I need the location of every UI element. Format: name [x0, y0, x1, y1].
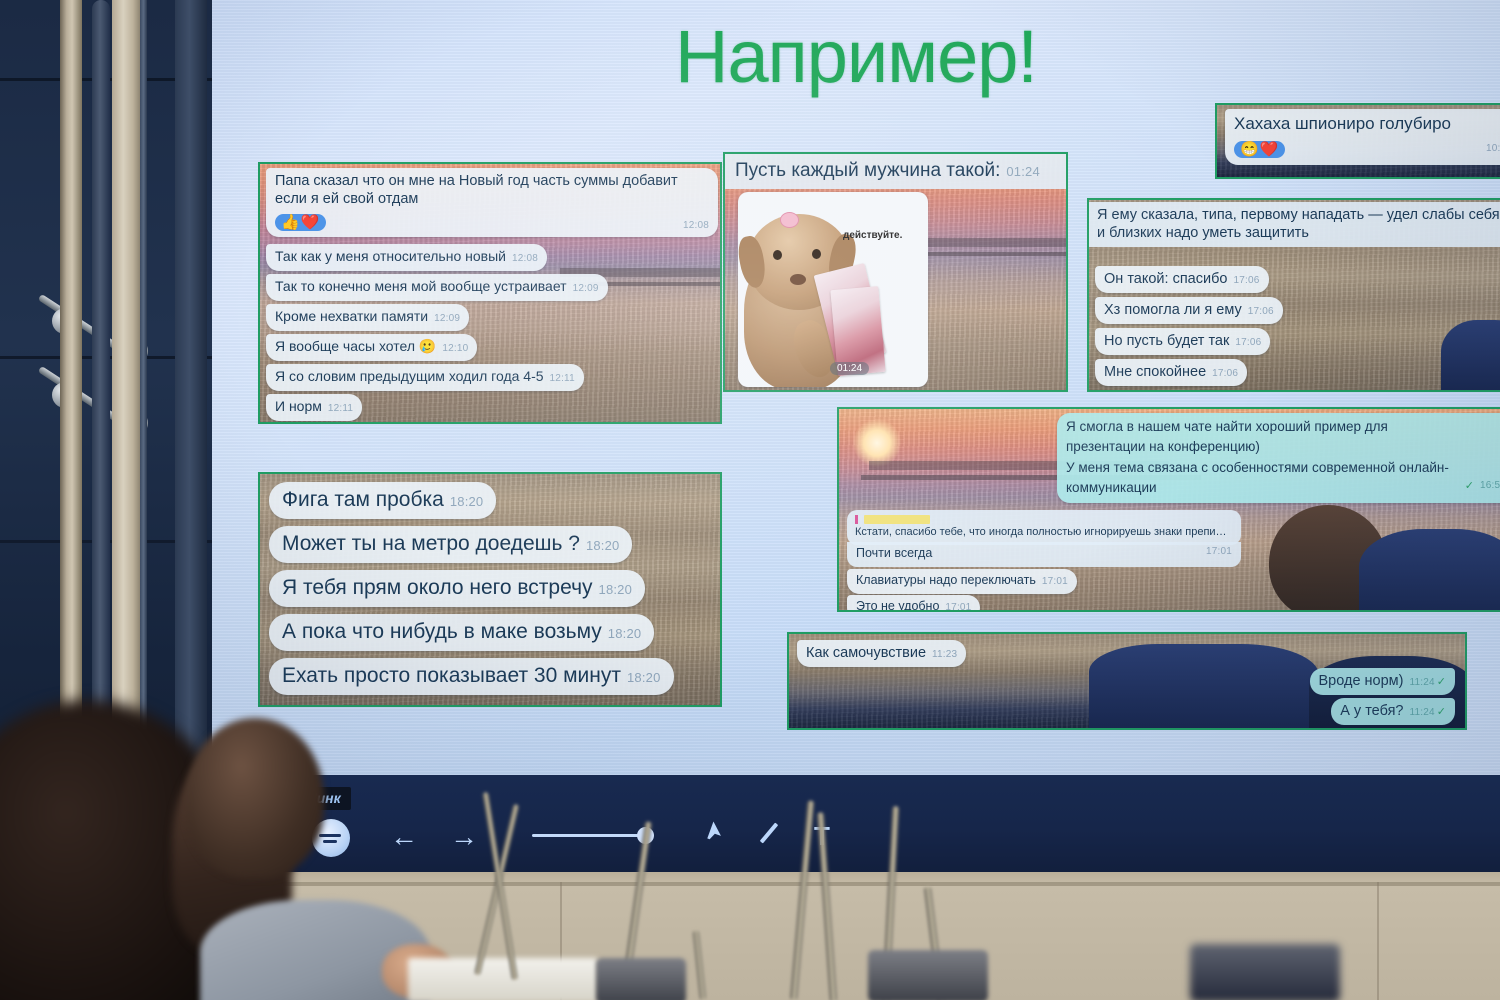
chat-bubble: Ехать просто показывает 30 минут18:20: [269, 658, 674, 695]
bubble-text-line1: Я смогла в нашем чате найти хороший прим…: [1066, 419, 1388, 434]
bubble-time: 12:11: [550, 373, 575, 384]
bubble-text: Вроде норм): [1319, 673, 1404, 689]
bubble-text: Я со словим предыдущим ходил года 4-5: [275, 368, 544, 384]
next-slide-button[interactable]: →: [450, 823, 478, 851]
progress-slider-knob[interactable]: [637, 827, 654, 844]
bubble-time: 18:20: [450, 494, 484, 509]
bubble-time: 18:20: [586, 538, 620, 553]
bubble-time: 17:01: [1206, 546, 1232, 559]
projection-screen: Например! Папа сказал что он мне на Новы…: [212, 0, 1500, 775]
progress-slider-track[interactable]: [532, 834, 642, 837]
read-tick-icon: ✓: [1437, 676, 1446, 688]
bubble-text: Ехать просто показывает 30 минут: [282, 664, 621, 687]
text-tool-button[interactable]: T: [814, 821, 830, 852]
chat-bubble: Кроме нехватки памяти12:09: [266, 304, 469, 331]
bubble-text: Папа сказал что он мне на Новый год част…: [275, 173, 678, 207]
reaction-pill[interactable]: 👍❤️: [275, 214, 326, 231]
bubble-text: Может ты на метро доедешь ?: [282, 532, 580, 555]
pen-tool-icon[interactable]: [757, 821, 781, 845]
chat-bubble: И норм12:11: [266, 394, 362, 421]
window-mullion: [112, 0, 140, 1000]
bubble-time: 17:06: [1212, 368, 1238, 379]
link-tooltip: Линк: [297, 787, 351, 810]
bubble-text: Пусть каждый мужчина такой:: [735, 160, 1000, 181]
chat-bubble: Фига там пробка18:20: [269, 482, 496, 519]
screenshot-root: Например! Папа сказал что он мне на Новы…: [0, 0, 1500, 1000]
bubble-text: Клавиатуры надо переключать: [856, 573, 1036, 587]
bubble-text: Как самочувствие: [806, 645, 926, 661]
bubble-text: Хз помогла ли я ему: [1104, 302, 1242, 318]
bubble-time: 11:24: [1409, 677, 1434, 688]
chat-bubble: Я со словим предыдущим ходил года 4-512:…: [266, 364, 584, 391]
chat-card-how-are-you: Как самочувствие11:23 Вроде норм)11:24✓ …: [787, 632, 1467, 730]
chat-bubble: А пока что нибудь в маке возьму18:20: [269, 614, 654, 651]
hair-clip-icon: [780, 212, 799, 228]
bubble-text: Я ему сказала, типа, первому нападать — …: [1097, 207, 1465, 223]
chat-card-defend: Я ему сказала, типа, первому нападать — …: [1087, 198, 1500, 392]
bubble-time: 12:10: [442, 343, 468, 354]
chat-bubble: Почти всегда 17:01: [847, 542, 1241, 567]
bubble-text: Это не удобно: [856, 599, 939, 612]
chat-bubble: А у тебя?11:24✓: [1331, 698, 1455, 725]
window-mullion: [60, 0, 82, 1000]
bubble-time: 18:20: [608, 626, 642, 641]
bubble-time: 17:06: [1233, 275, 1259, 286]
wall-panel: [212, 872, 1500, 1000]
chat-bubble: Может ты на метро доедешь ?18:20: [269, 526, 632, 563]
bubble-time: 18:20: [627, 670, 661, 685]
bubble-text: Хахаха шпиониро голубиро: [1234, 114, 1451, 133]
presentation-toolbar: Линк ← → T: [212, 775, 1500, 872]
bubble-text: А у тебя?: [1340, 703, 1403, 719]
bubble-text-line2: презентации на конференцию): [1066, 439, 1260, 454]
chat-bubble: Я тебя прям около него встречу18:20: [269, 570, 645, 607]
meme-timestamp: 01:24: [830, 362, 869, 375]
meme-image-message[interactable]: действуйте. 01:24: [738, 192, 928, 387]
bubble-text: Кстати, спасибо тебе, что иногда полност…: [855, 526, 1227, 538]
bubble-text: А пока что нибудь в маке возьму: [282, 620, 602, 643]
bubble-text: Кроме нехватки памяти: [275, 308, 428, 324]
chat-bubble: Мне спокойнее17:06: [1095, 359, 1247, 386]
bubble-time: 01:24: [1006, 164, 1040, 179]
app-logo-icon[interactable]: [312, 819, 350, 857]
prev-slide-button[interactable]: ←: [390, 823, 418, 851]
window-mullion: [175, 0, 207, 1000]
bubble-time: 12:09: [434, 313, 460, 324]
bubble-text: Так то конечно меня мой вообще устраивае…: [275, 278, 567, 294]
bubble-time: 12:08: [512, 253, 538, 264]
cursor-arrow-icon: [707, 821, 725, 843]
bubble-text: Но пусть будет так: [1104, 333, 1229, 349]
bubble-text: Я тебя прям около него встречу: [282, 576, 593, 599]
chat-card-spy-pigeon: Хахаха шпиониро голубиро 😁❤️ 10:17: [1215, 103, 1500, 179]
chat-bubble: Так как у меня относительно новый12:08: [266, 244, 547, 271]
bubble-time: 17:01: [945, 602, 971, 612]
slide-title: Например!: [212, 14, 1500, 99]
chat-bubble: Это не удобно17:01: [847, 595, 980, 612]
redacted-sender-name: [864, 515, 930, 524]
chat-bubble: Он такой: спасибо17:06: [1095, 266, 1269, 293]
chat-bubble: Но пусть будет так17:06: [1095, 328, 1270, 355]
chat-bubble: Я вообще часы хотел 🥲12:10: [266, 334, 477, 361]
chat-card-conference-example: Я смогла в нашем чате найти хороший прим…: [837, 407, 1500, 612]
chat-bubble: Хз помогла ли я ему17:06: [1095, 297, 1283, 324]
chat-bubble-quoted-reply: Кстати, спасибо тебе, что иногда полност…: [847, 510, 1241, 545]
meme-caption: действуйте.: [843, 230, 902, 241]
chat-bubble: Так то конечно меня мой вообще устраивае…: [266, 274, 608, 301]
chat-bubble: Вроде норм)11:24✓: [1310, 668, 1455, 695]
chat-card-traffic-metro: Фига там пробка18:20 Может ты на метро д…: [258, 472, 722, 707]
bubble-time: 17:06: [1248, 306, 1274, 317]
window-mullion: [140, 0, 147, 1000]
bubble-time: 11:24: [1409, 707, 1434, 718]
chat-bubble: Хахаха шпиониро голубиро 😁❤️ 10:17: [1225, 109, 1500, 165]
bubble-time: 18:20: [599, 582, 633, 597]
chat-bubble: Я смогла в нашем чате найти хороший прим…: [1057, 413, 1500, 503]
chat-card-family-watch: Папа сказал что он мне на Новый год част…: [258, 162, 722, 424]
read-tick-icon: ✓: [1465, 478, 1474, 495]
bubble-time: 12:11: [328, 403, 353, 414]
chat-bubble: Папа сказал что он мне на Новый год част…: [266, 168, 718, 237]
bubble-time: 12:08: [683, 220, 709, 233]
bubble-time: 10:17: [1486, 143, 1500, 156]
chat-bubble: Клавиатуры надо переключать17:01: [847, 569, 1077, 594]
reaction-pill[interactable]: 😁❤️: [1234, 141, 1285, 158]
bubble-text: Так как у меня относительно новый: [275, 248, 506, 264]
pointer-tool-icon[interactable]: [707, 821, 725, 848]
bubble-text-line3: У меня тема связана с особенностями совр…: [1066, 460, 1449, 475]
bubble-text: Я вообще часы хотел 🥲: [275, 338, 436, 354]
bubble-text: Мне спокойнее: [1104, 364, 1206, 380]
chat-card-dog-meme: Пусть каждый мужчина такой:01:24 действу…: [723, 152, 1068, 392]
bubble-text: Почти всегда: [856, 546, 932, 560]
bubble-text: Фига там пробка: [282, 488, 444, 511]
bubble-text: И норм: [275, 398, 322, 414]
bubble-text: Он такой: спасибо: [1104, 271, 1227, 287]
chat-bubble: Я ему сказала, типа, первому нападать — …: [1089, 202, 1500, 247]
window-mullion: [92, 0, 110, 1000]
bubble-time: 17:01: [1042, 576, 1068, 587]
read-tick-icon: ✓: [1437, 706, 1446, 718]
bubble-time: 16:58: [1480, 478, 1500, 493]
chat-bubble: Пусть каждый мужчина такой:01:24: [725, 154, 1068, 189]
bubble-time: 12:09: [573, 283, 599, 294]
chat-bubble: Как самочувствие11:23: [797, 640, 966, 667]
bubble-text-line4: коммуникации: [1066, 480, 1157, 495]
bubble-time: 11:23: [932, 649, 957, 660]
reply-quote: [855, 515, 1233, 524]
bubble-time: 17:06: [1235, 337, 1261, 348]
